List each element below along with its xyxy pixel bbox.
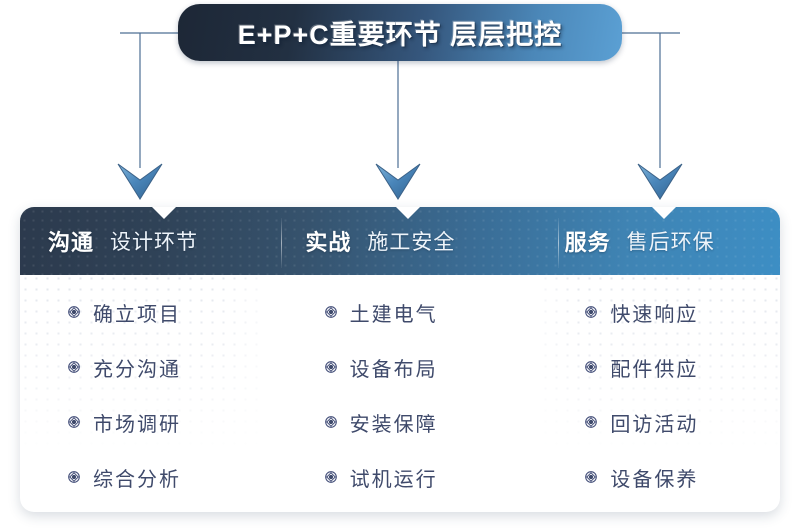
column-communication: 确立项目充分沟通市场调研综合分析 [20, 275, 263, 512]
list-item-label: 安装保障 [350, 408, 438, 437]
column-practice: 土建电气设备布局安装保障试机运行 [263, 275, 520, 512]
list-item-label: 确立项目 [93, 298, 181, 327]
list-item[interactable]: 设备保养 [585, 450, 780, 505]
header-title-practice: 实战 [305, 225, 351, 257]
header-title-communication: 沟通 [48, 225, 94, 257]
list-item[interactable]: 土建电气 [325, 285, 520, 340]
list-item-label: 回访活动 [610, 408, 698, 437]
diamond-bullet-icon [585, 361, 597, 373]
down-chevron-arrow [376, 164, 420, 199]
header-cell-practice[interactable]: 实战 施工安全 [263, 207, 520, 275]
down-chevron-arrow [638, 164, 682, 199]
header-title-service: 服务 [565, 225, 611, 257]
infographic-stage: E+P+C重要环节 层层把控 沟通 设计环节 实战 施工安全 服务 售后环保 [0, 0, 800, 530]
header-divider-1 [281, 218, 282, 268]
list-item[interactable]: 确立项目 [68, 285, 263, 340]
header-subtitle-service: 售后环保 [627, 226, 715, 256]
header-cell-communication[interactable]: 沟通 设计环节 [20, 207, 263, 275]
list-item-label: 设备布局 [350, 353, 438, 382]
page-title: E+P+C重要环节 层层把控 [238, 13, 563, 52]
list-item-label: 市场调研 [93, 408, 181, 437]
diamond-bullet-icon [585, 306, 597, 318]
title-banner: E+P+C重要环节 层层把控 [178, 4, 622, 61]
list-item-label: 综合分析 [93, 463, 181, 492]
list-item[interactable]: 市场调研 [68, 395, 263, 450]
list-item[interactable]: 安装保障 [325, 395, 520, 450]
list-item-label: 土建电气 [350, 298, 438, 327]
header-divider-2 [558, 218, 559, 268]
down-chevron-arrow [118, 164, 162, 199]
header-row: 沟通 设计环节 实战 施工安全 服务 售后环保 [20, 207, 780, 275]
main-panel: 沟通 设计环节 实战 施工安全 服务 售后环保 确立项目充分沟通市场调研综合分析… [20, 207, 780, 512]
list-item-label: 快速响应 [610, 298, 698, 327]
header-subtitle-communication: 设计环节 [110, 226, 198, 256]
diamond-bullet-icon [325, 471, 337, 483]
diamond-bullet-icon [585, 471, 597, 483]
diamond-bullet-icon [585, 416, 597, 428]
list-item-label: 设备保养 [610, 463, 698, 492]
diamond-bullet-icon [325, 361, 337, 373]
list-item[interactable]: 设备布局 [325, 340, 520, 395]
column-list-area: 确立项目充分沟通市场调研综合分析 土建电气设备布局安装保障试机运行 快速响应配件… [20, 275, 780, 512]
list-item-label: 配件供应 [610, 353, 698, 382]
diamond-bullet-icon [68, 306, 80, 318]
list-item[interactable]: 配件供应 [585, 340, 780, 395]
list-item[interactable]: 综合分析 [68, 450, 263, 505]
list-item[interactable]: 试机运行 [325, 450, 520, 505]
list-item[interactable]: 回访活动 [585, 395, 780, 450]
diamond-bullet-icon [325, 306, 337, 318]
list-item-label: 充分沟通 [93, 353, 181, 382]
diamond-bullet-icon [68, 416, 80, 428]
header-cell-service[interactable]: 服务 售后环保 [521, 207, 780, 275]
diamond-bullet-icon [68, 471, 80, 483]
diamond-bullet-icon [325, 416, 337, 428]
list-item[interactable]: 充分沟通 [68, 340, 263, 395]
list-item-label: 试机运行 [350, 463, 438, 492]
list-item[interactable]: 快速响应 [585, 285, 780, 340]
header-subtitle-practice: 施工安全 [367, 226, 455, 256]
column-service: 快速响应配件供应回访活动设备保养 [519, 275, 780, 512]
diamond-bullet-icon [68, 361, 80, 373]
